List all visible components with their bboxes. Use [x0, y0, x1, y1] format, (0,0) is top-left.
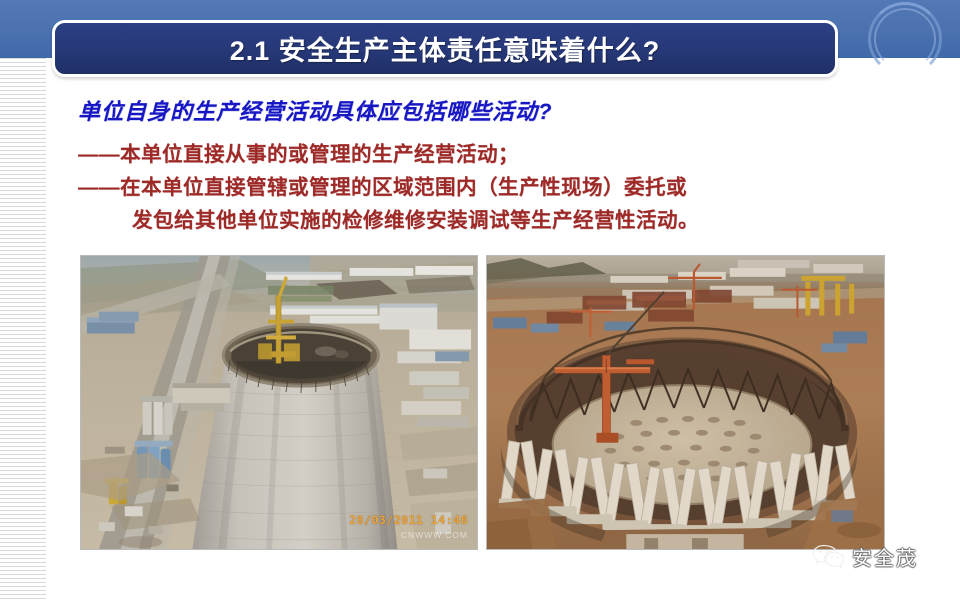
content-bullet-2: ——在本单位直接管辖或管理的区域范围内（生产性现场）委托或: [78, 171, 878, 204]
left-stripe-decoration: [0, 58, 46, 601]
wechat-icon: [812, 543, 846, 571]
photo-watermark: CNWWW.COM: [401, 530, 468, 540]
page-title: 2.1 安全生产主体责任意味着什么?: [230, 29, 661, 68]
photo-cooling-tower-foundation: [486, 255, 885, 550]
crescent-arc-inner-icon: [874, 8, 936, 70]
slide-canvas: 2.1 安全生产主体责任意味着什么? 单位自身的生产经营活动具体应包括哪些活动?…: [0, 0, 960, 601]
left-stripe-edge: [46, 58, 49, 601]
photo-left-graphic: [81, 256, 477, 549]
content-bullet-3: 发包给其他单位实施的检修维修安装调试等生产经营性活动。: [78, 204, 878, 237]
content-heading: 单位自身的生产经营活动具体应包括哪些活动?: [78, 96, 878, 128]
photo-cooling-tower-aerial: 28/03/2011 14:46 CNWWW.COM: [80, 255, 478, 550]
brand-logo: 安全茂: [812, 542, 918, 571]
logo-text: 安全茂: [852, 542, 918, 571]
photo-right-graphic: [487, 256, 884, 549]
content-text-block: 单位自身的生产经营活动具体应包括哪些活动? ——本单位直接从事的或管理的生产经营…: [78, 96, 878, 237]
photo-timestamp: 28/03/2011 14:46: [349, 513, 468, 527]
slide-title-bar: 2.1 安全生产主体责任意味着什么?: [52, 20, 838, 77]
content-bullet-1: ——本单位直接从事的或管理的生产经营活动；: [78, 138, 878, 171]
